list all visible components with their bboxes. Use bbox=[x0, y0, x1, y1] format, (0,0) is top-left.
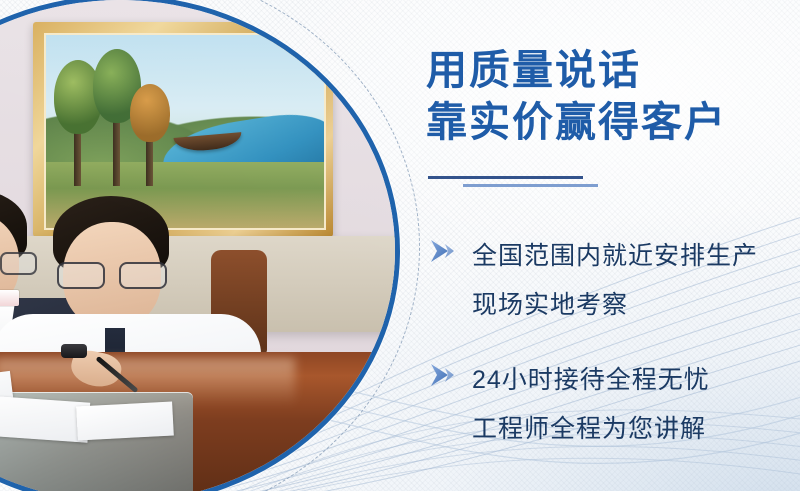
feature-list: 全国范围内就近安排生产 现场实地考察 bbox=[424, 232, 800, 480]
headline-divider bbox=[428, 176, 628, 190]
photo-scene bbox=[0, 0, 395, 491]
business-meeting-photo bbox=[0, 0, 400, 491]
photo-highlight-overlay bbox=[0, 0, 395, 491]
feature-item-2: 24小时接待全程无忧 工程师全程为您讲解 bbox=[424, 356, 800, 454]
divider-bar-top bbox=[428, 176, 583, 179]
feature-item-1-line-1: 全国范围内就近安排生产 bbox=[472, 232, 800, 281]
promo-banner: 用质量说话 靠实价赢得客户 bbox=[0, 0, 800, 491]
divider-bar-bottom bbox=[463, 184, 598, 187]
feature-item-2-line-1: 24小时接待全程无忧 bbox=[472, 356, 800, 405]
arrow-right-icon bbox=[428, 361, 458, 389]
feature-item-2-line-2: 工程师全程为您讲解 bbox=[472, 405, 800, 454]
feature-item-1-line-2: 现场实地考察 bbox=[472, 281, 800, 330]
headline-line-2: 靠实价赢得客户 bbox=[426, 96, 798, 148]
feature-item-1: 全国范围内就近安排生产 现场实地考察 bbox=[424, 232, 800, 330]
banner-content: 用质量说话 靠实价赢得客户 bbox=[424, 0, 800, 491]
headline: 用质量说话 靠实价赢得客户 bbox=[426, 44, 798, 148]
arrow-right-icon bbox=[428, 237, 458, 265]
headline-line-1: 用质量说话 bbox=[426, 47, 641, 93]
